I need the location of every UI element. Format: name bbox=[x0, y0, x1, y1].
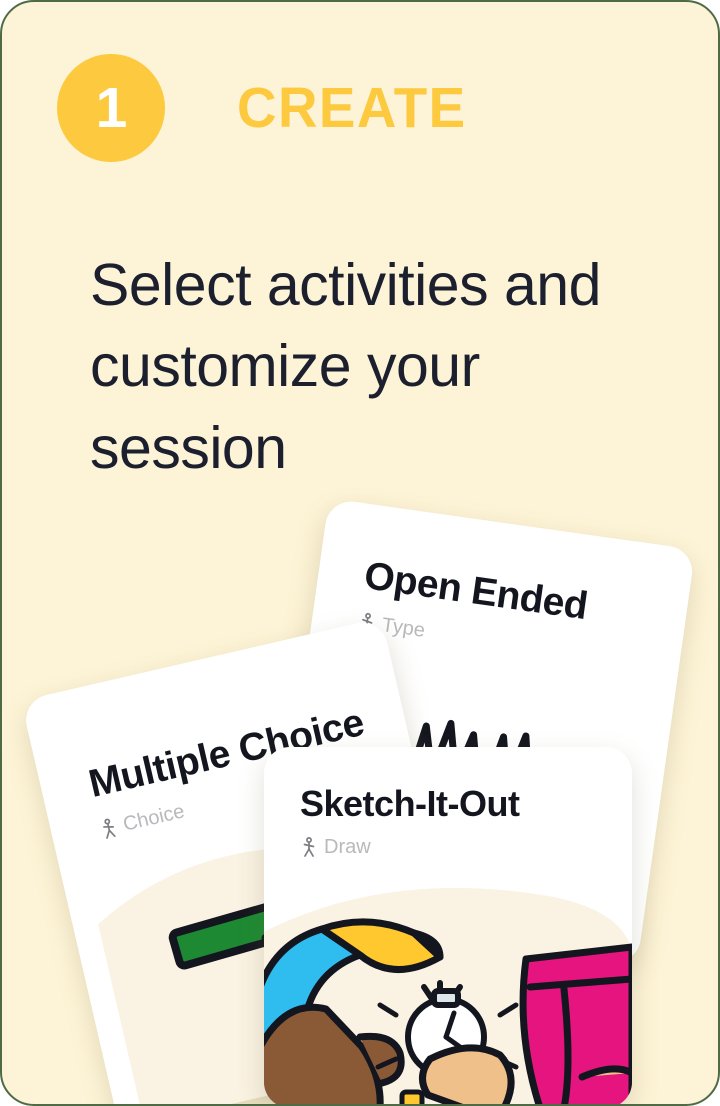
card-title: Sketch-It-Out bbox=[300, 785, 520, 823]
card-subtitle-text: Type bbox=[381, 615, 427, 641]
promo-card: 1 CREATE Select activities and customize… bbox=[0, 0, 720, 1106]
card-subtitle: Draw bbox=[302, 837, 371, 857]
activity-card-stack: Open Ended Type bbox=[2, 2, 720, 1106]
activity-card-sketch-it-out[interactable]: Sketch-It-Out Draw bbox=[264, 747, 632, 1106]
card-subtitle-text: Choice bbox=[121, 801, 186, 834]
person-figure-icon bbox=[302, 837, 316, 857]
person-figure-icon bbox=[100, 817, 118, 840]
card-subtitle: Choice bbox=[100, 801, 187, 839]
card-subtitle-text: Draw bbox=[324, 837, 371, 857]
